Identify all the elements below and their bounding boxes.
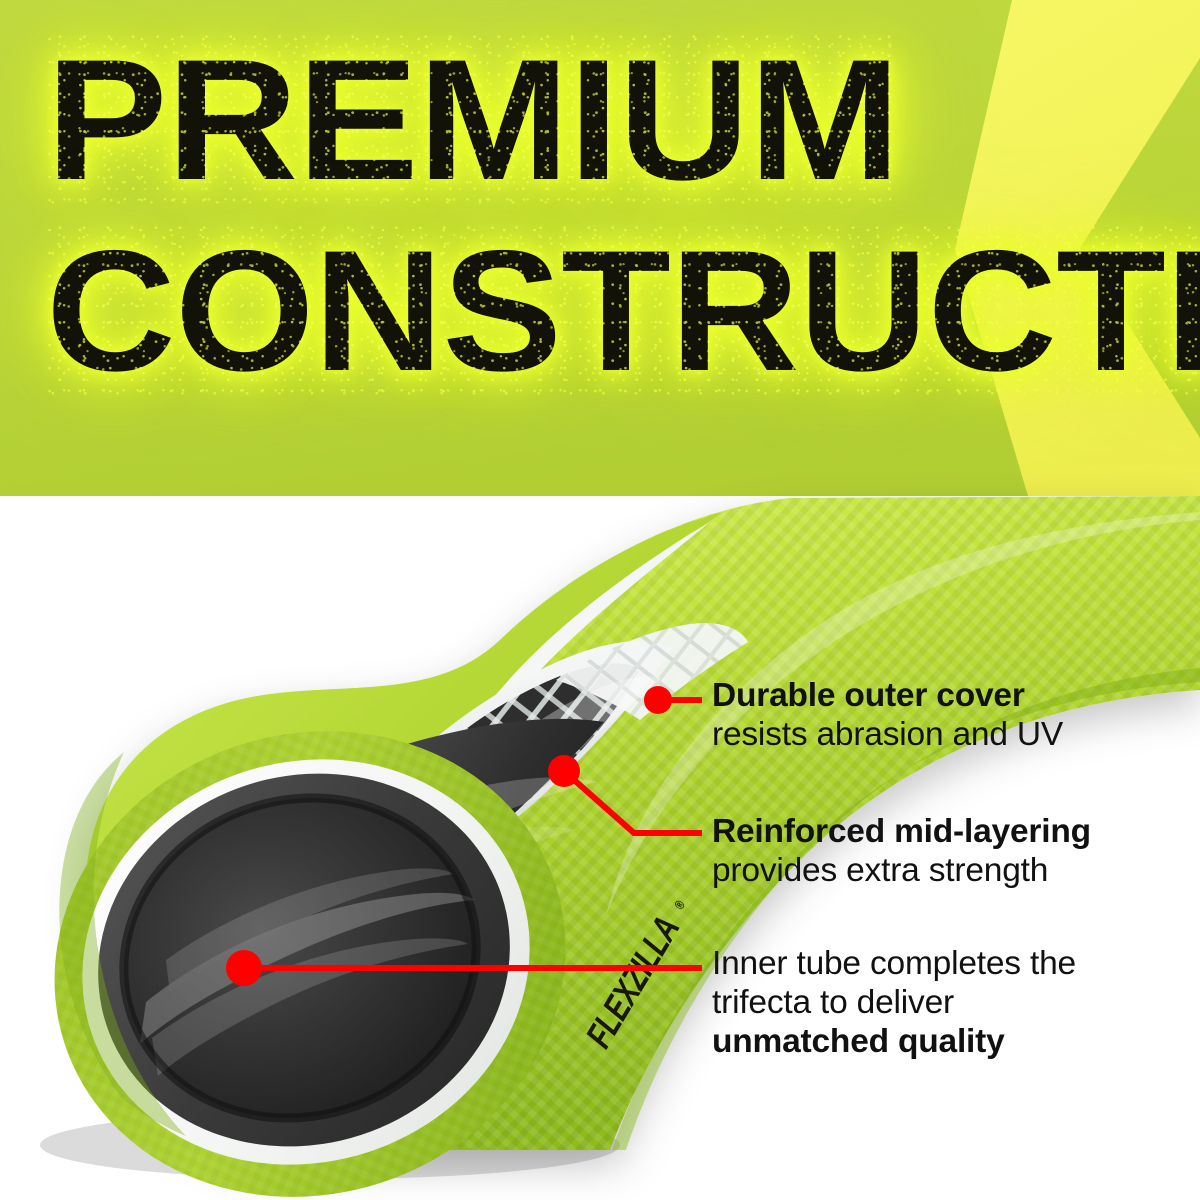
leader-line-mid-layering bbox=[564, 771, 702, 833]
callout-dot-mid-layering bbox=[548, 755, 580, 787]
callout-2-regular: provides extra strength bbox=[712, 852, 1048, 889]
callout-group: Durable outer cover resists abrasion and… bbox=[0, 0, 1200, 1200]
callout-text-outer-cover: Durable outer cover resists abrasion and… bbox=[712, 676, 1192, 754]
callout-2-bold: Reinforced mid-layering bbox=[712, 813, 1091, 850]
callout-text-mid-layering: Reinforced mid-layering provides extra s… bbox=[712, 812, 1194, 890]
callout-3-regular-1: Inner tube completes the bbox=[712, 945, 1076, 982]
callout-dot-inner-tube bbox=[226, 950, 262, 986]
callout-3-bold: unmatched quality bbox=[712, 1023, 1005, 1060]
callout-text-inner-tube: Inner tube completes the trifecta to del… bbox=[712, 944, 1194, 1062]
callout-3-regular-2: trifecta to deliver bbox=[712, 984, 954, 1021]
callout-1-bold: Durable outer cover bbox=[712, 677, 1025, 714]
callout-1-regular: resists abrasion and UV bbox=[712, 716, 1063, 753]
callout-dot-outer-cover bbox=[644, 686, 672, 714]
infographic-canvas: PREMIUM CONSTRUCTION bbox=[0, 0, 1200, 1200]
